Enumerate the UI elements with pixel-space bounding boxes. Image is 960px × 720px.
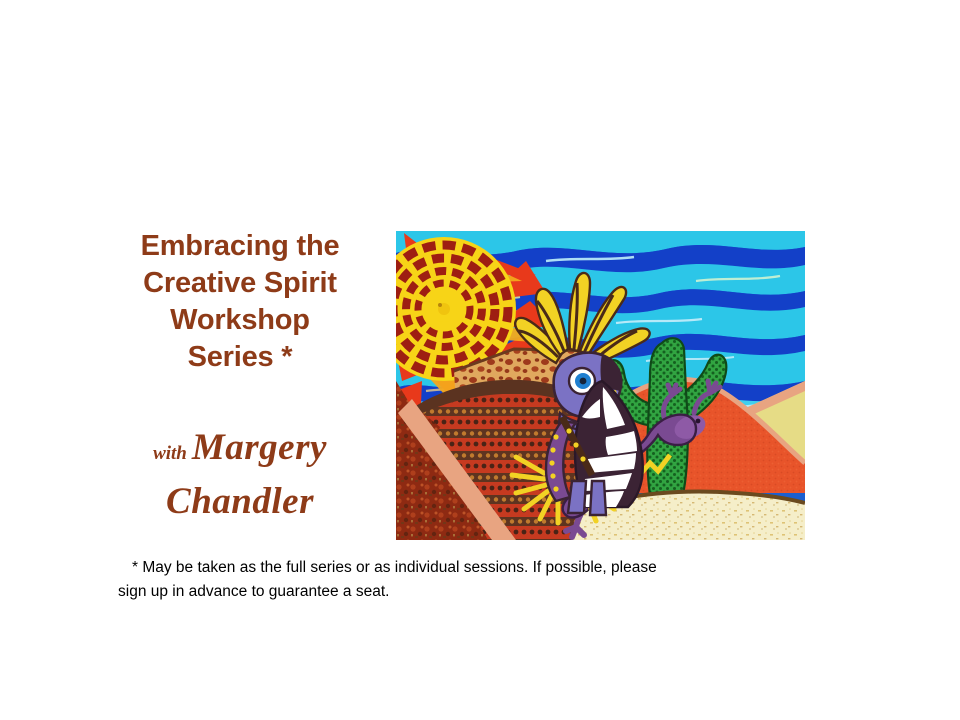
footnote-text: * May be taken as the full series or as … xyxy=(118,556,798,604)
presenter-first-name: Margery xyxy=(192,427,327,468)
page-title: Embracing the Creative Spirit Workshop S… xyxy=(96,228,384,376)
artwork-svg xyxy=(396,231,805,540)
title-line-4: Series * xyxy=(96,339,384,376)
artwork-image xyxy=(396,231,805,540)
presentation-slide: Embracing the Creative Spirit Workshop S… xyxy=(0,0,960,720)
title-line-2: Creative Spirit xyxy=(96,265,384,302)
presenter-line-second: Chandler xyxy=(96,479,384,532)
presenter-prefix: with xyxy=(153,443,187,464)
footnote-line-1: * May be taken as the full series or as … xyxy=(118,556,798,580)
presenter-line-first: withMargery xyxy=(96,424,384,479)
title-line-1: Embracing the xyxy=(96,228,384,265)
footnote-line-2: sign up in advance to guarantee a seat. xyxy=(118,580,798,604)
presenter-credit: withMargery Chandler xyxy=(96,424,384,532)
title-line-3: Workshop xyxy=(96,302,384,339)
presenter-last-name: Chandler xyxy=(166,481,314,522)
